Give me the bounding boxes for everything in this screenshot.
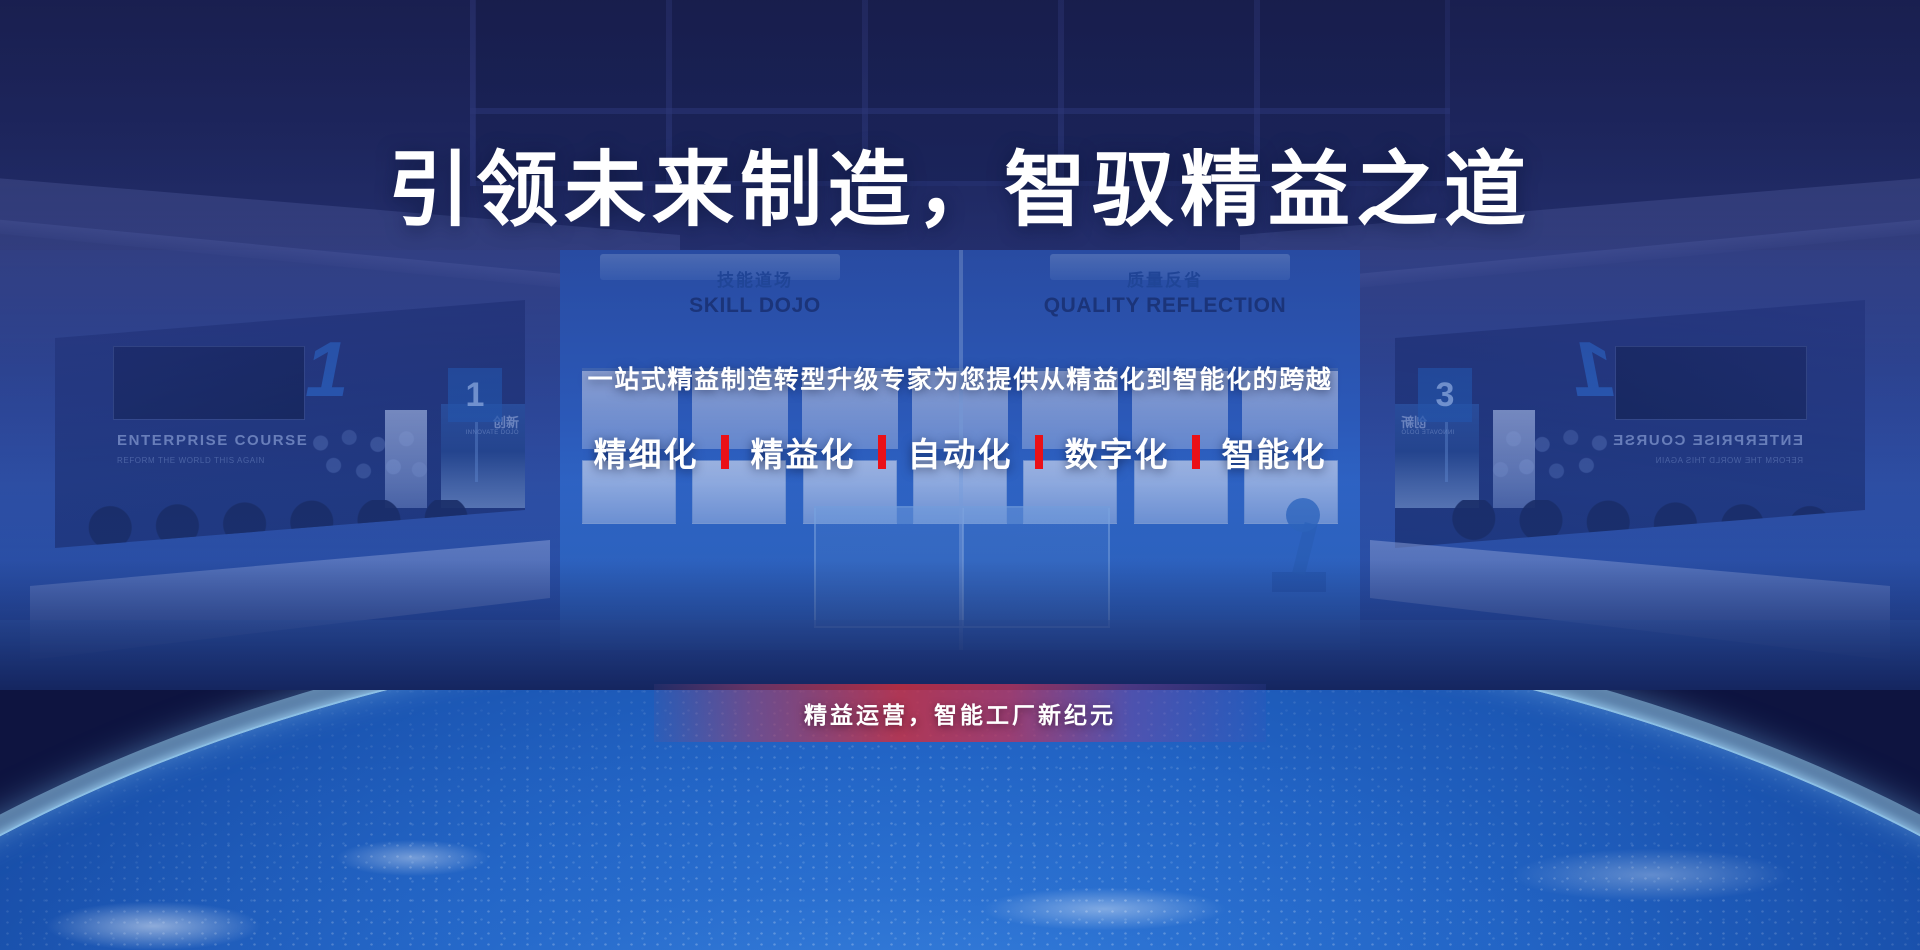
hall-sign-skill-dojo: 技能道场 SKILL DOJO	[590, 266, 920, 318]
hero-subtitle: 一站式精益制造转型升级专家为您提供从精益化到智能化的跨越	[0, 360, 1920, 396]
keyword-list: 精细化 精益化 自动化 数字化 智能化	[0, 428, 1920, 476]
hero-banner: 1 ENTERPRISE COURSE REFORM THE WORLD THI…	[0, 0, 1920, 950]
keyword-item: 数字化	[1043, 428, 1192, 476]
keyword-item: 精细化	[572, 428, 721, 476]
robot-arm	[1262, 496, 1336, 592]
keyword-item: 智能化	[1200, 428, 1349, 476]
keyword-item: 自动化	[886, 428, 1035, 476]
keyword-separator	[1035, 435, 1043, 469]
robot-base	[1272, 572, 1326, 592]
tagline-badge: 精益运营，智能工厂新纪元	[654, 684, 1266, 742]
hall-sign-cn: 技能道场	[590, 266, 920, 291]
keyword-separator	[878, 435, 886, 469]
keyword-item: 精益化	[729, 428, 878, 476]
tagline-text: 精益运营，智能工厂新纪元	[804, 696, 1116, 730]
page-title: 引领未来制造，智驭精益之道	[0, 148, 1920, 234]
robot-joint	[1286, 498, 1320, 532]
keyword-separator	[1192, 435, 1200, 469]
hall-sign-en: QUALITY REFLECTION	[1000, 294, 1330, 318]
factory-showroom-scene: 1 ENTERPRISE COURSE REFORM THE WORLD THI…	[0, 0, 1920, 690]
keyword-separator	[721, 435, 729, 469]
hall-sign-en: SKILL DOJO	[590, 294, 920, 318]
hall-sign-cn: 质量反省	[1000, 266, 1330, 291]
floor	[0, 620, 1920, 690]
hall-sign-quality-reflection: 质量反省 QUALITY REFLECTION	[1000, 266, 1330, 318]
